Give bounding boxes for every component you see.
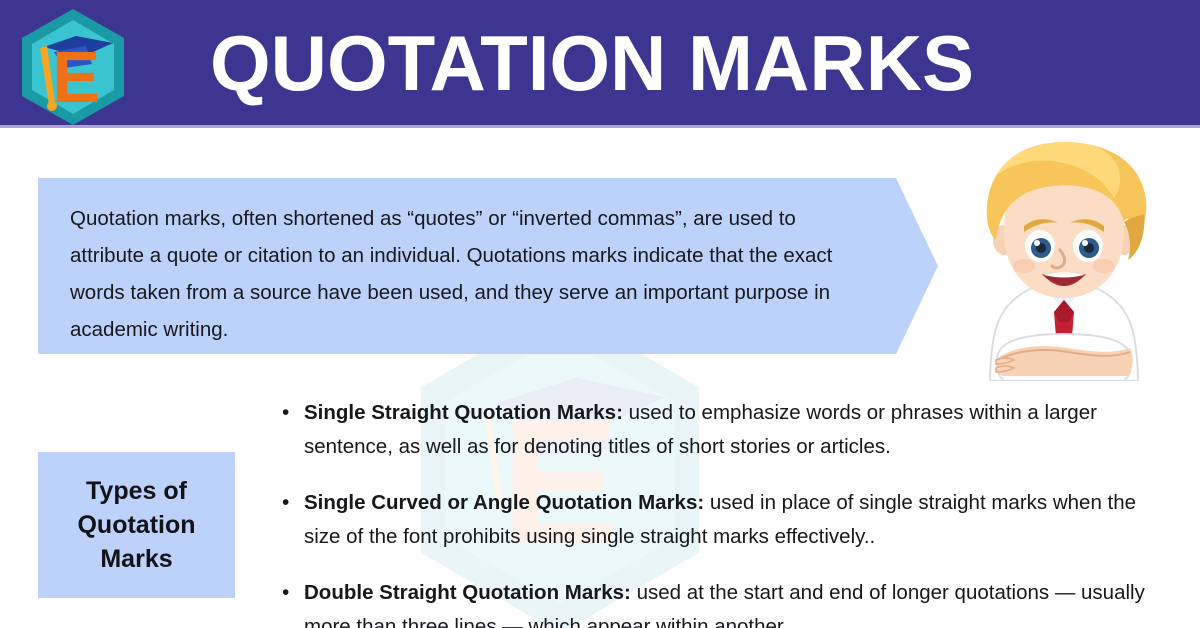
intro-text: Quotation marks, often shortened as “quo…: [70, 200, 868, 348]
types-bullet-list: • Single Straight Quotation Marks: used …: [282, 396, 1172, 628]
list-item-term: Single Straight Quotation Marks:: [304, 401, 623, 424]
list-item: • Double Straight Quotation Marks: used …: [282, 576, 1172, 628]
page-title: QUOTATION MARKS: [210, 24, 974, 102]
schoolboy-illustration: [938, 136, 1190, 381]
types-label-line-1: Types of: [77, 474, 195, 508]
site-logo-icon[interactable]: E: [14, 6, 132, 128]
list-item: • Single Straight Quotation Marks: used …: [282, 396, 1172, 464]
list-item-body: Single Curved or Angle Quotation Marks: …: [304, 486, 1172, 554]
list-item-body: Single Straight Quotation Marks: used to…: [304, 396, 1172, 464]
infographic-page: E E QUOTATION MARKS Quotation marks, oft…: [0, 0, 1200, 628]
bullet-marker-icon: •: [282, 396, 304, 430]
types-label-line-3: Marks: [77, 542, 195, 576]
types-label-line-2: Quotation: [77, 508, 195, 542]
types-label-text: Types of Quotation Marks: [77, 474, 195, 576]
types-label-box: Types of Quotation Marks: [38, 452, 235, 598]
header-underline: [0, 125, 1200, 128]
intro-callout: Quotation marks, often shortened as “quo…: [38, 178, 938, 354]
list-item-term: Double Straight Quotation Marks:: [304, 581, 631, 604]
list-item-body: Double Straight Quotation Marks: used at…: [304, 576, 1172, 628]
list-item-term: Single Curved or Angle Quotation Marks:: [304, 491, 704, 514]
svg-text:E: E: [52, 38, 100, 118]
bullet-marker-icon: •: [282, 576, 304, 610]
bullet-marker-icon: •: [282, 486, 304, 520]
page-header: E QUOTATION MARKS: [0, 0, 1200, 125]
list-item: • Single Curved or Angle Quotation Marks…: [282, 486, 1172, 554]
